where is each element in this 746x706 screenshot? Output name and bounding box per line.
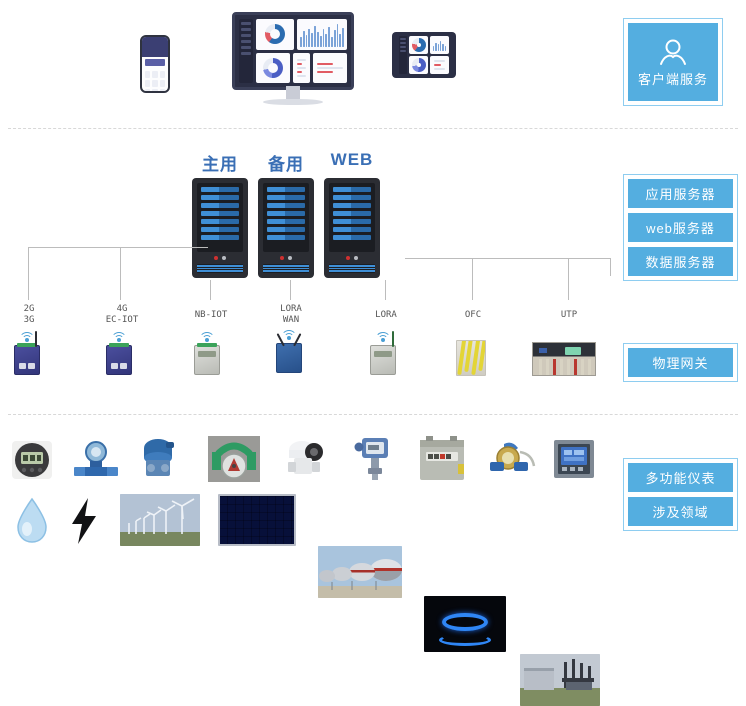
gas-meter-icon — [414, 434, 470, 482]
substation-icon — [520, 654, 600, 706]
connector-drop-utp — [568, 258, 569, 300]
dashboard-body — [256, 19, 347, 83]
web-server-rack — [324, 178, 380, 278]
switch-indicator — [539, 348, 547, 353]
phone-tile — [160, 89, 165, 93]
legend-servers: 应用服务器 web服务器 数据服务器 — [623, 174, 738, 281]
nbiot-gateway — [194, 332, 220, 375]
legend-physical-gateway: 物理网关 — [628, 348, 733, 377]
rack-bays — [197, 183, 243, 252]
power-quality-analyzer — [550, 436, 600, 482]
electrical-substation-photo — [520, 654, 600, 706]
rack-leds — [263, 252, 309, 264]
phone-tile — [152, 71, 157, 78]
connector-bus-left — [28, 247, 208, 248]
divider-gateway-meter — [8, 414, 738, 415]
proto-2g-3g: 2G 3G — [4, 304, 54, 326]
rack-base — [329, 264, 375, 273]
phone-tile — [152, 80, 157, 87]
proto-lorawan: LORA WAN — [264, 304, 318, 326]
rack-leds — [197, 252, 243, 264]
rack-leds — [329, 252, 375, 264]
network-switch — [532, 342, 596, 376]
pressure-gauge-icon — [348, 434, 400, 482]
flame-ring-outer — [442, 613, 488, 631]
tablet — [392, 32, 456, 78]
router-body — [106, 345, 132, 375]
proto-utp: UTP — [542, 310, 596, 321]
phone-tile — [152, 89, 157, 93]
client-service-label: 客户端服务 — [638, 69, 708, 88]
legend-multifunction-meter: 多功能仪表 — [628, 463, 733, 492]
rack-label-backup: 备用 — [258, 150, 314, 175]
power-meter-icon — [550, 436, 600, 482]
lora-modem — [370, 332, 396, 375]
phone-header — [142, 37, 168, 57]
pressure-transmitter — [132, 436, 184, 482]
dashboard-row-bottom — [256, 53, 347, 84]
divider-client-server — [8, 128, 738, 129]
legend-application-fields: 涉及领域 — [628, 497, 733, 526]
solar-panel-photo — [218, 494, 296, 546]
cellular-gateway — [14, 332, 40, 375]
vortex-flow-meter — [280, 436, 332, 482]
smartphone — [140, 35, 170, 93]
wifi-signal-icon — [18, 332, 36, 343]
proto-4g-ecio: 4G EC-IOT — [96, 304, 148, 326]
connector-right-riser — [610, 258, 611, 276]
tablet-bar-panel — [430, 36, 449, 54]
rack-label-web: WEB — [324, 150, 380, 170]
fiber-optic-cables — [456, 340, 486, 376]
legend-devices: 多功能仪表 涉及领域 — [623, 458, 738, 531]
dashboard-sidebar — [239, 19, 253, 83]
tablet-sidebar — [399, 36, 407, 74]
industrial-router — [106, 332, 132, 375]
tablet-body — [409, 36, 449, 74]
wifi-signal-icon — [198, 332, 216, 343]
phone-tile — [145, 71, 150, 78]
electricity-bolt-icon — [66, 496, 102, 546]
gauge-panel — [313, 53, 347, 84]
user-icon — [656, 37, 690, 67]
desktop-monitor — [232, 12, 354, 105]
phone-tile — [160, 71, 165, 78]
connector-bus-right — [405, 258, 610, 259]
tablet-table-panel — [430, 56, 449, 74]
storage-tanks-icon — [318, 546, 402, 598]
flow-meter-icon — [70, 439, 122, 481]
rack-base — [197, 264, 243, 273]
phone-banner — [145, 59, 165, 66]
phone-tile — [145, 89, 150, 93]
primary-server-rack — [192, 178, 248, 278]
gateway-body — [14, 345, 40, 375]
legend-gateway: 物理网关 — [623, 343, 738, 382]
phone-tile — [145, 80, 150, 87]
data-table-panel — [293, 53, 310, 84]
antenna-icon — [35, 331, 37, 347]
vortex-meter-icon — [280, 436, 332, 482]
wifi-signal-icon — [374, 332, 392, 343]
legend-data-server: 数据服务器 — [628, 247, 733, 276]
monitor-neck — [286, 86, 300, 99]
legend-app-server: 应用服务器 — [628, 179, 733, 208]
flame-ring-inner — [439, 634, 491, 646]
rack-bays — [263, 183, 309, 252]
gas-flame-photo — [424, 596, 506, 652]
digital-display-meter — [8, 438, 56, 482]
residential-gas-meter — [414, 434, 470, 482]
lorawan-body — [276, 343, 302, 373]
monitor-base — [263, 99, 323, 105]
turbine-flow-meter — [208, 436, 260, 482]
gas-storage-tanks-photo — [318, 546, 402, 598]
connector-drop-2g — [28, 247, 29, 300]
phone-tile — [160, 80, 165, 87]
tablet-donut-panel — [409, 36, 428, 54]
wind-farm-photo — [120, 494, 200, 546]
water-drop-icon — [12, 496, 52, 546]
antenna-icon — [392, 331, 394, 347]
electromagnetic-flow-meter — [70, 438, 122, 482]
dashboard-row-top — [256, 19, 347, 50]
proto-lora: LORA — [359, 310, 413, 321]
client-service-chip: 客户端服务 — [628, 23, 718, 101]
connector-drop-nbiot — [210, 280, 211, 300]
turbine-meter-icon — [208, 436, 260, 482]
connector-drop-lora — [385, 280, 386, 300]
switch-display — [565, 347, 581, 355]
smart-water-meter — [484, 438, 540, 482]
donut-chart-panel-2 — [256, 53, 290, 84]
tablet-donut-panel-2 — [409, 56, 428, 74]
phone-app-grid — [142, 68, 168, 93]
water-meter-icon — [484, 438, 540, 482]
lorawan-gateway — [276, 330, 302, 373]
legend-web-server: web服务器 — [628, 213, 733, 242]
legend-client-service: 客户端服务 — [623, 18, 723, 106]
rack-base — [263, 264, 309, 273]
lora-body — [370, 345, 396, 375]
pressure-transmitter-icon — [132, 436, 184, 482]
bar-chart-panel — [297, 19, 347, 50]
tablet-screen — [392, 32, 456, 78]
smart-pressure-gauge — [348, 434, 400, 482]
connector-drop-lorawan — [290, 280, 291, 300]
proto-nbiot: NB-IOT — [184, 310, 238, 321]
wifi-signal-icon — [110, 332, 128, 343]
digital-meter-icon — [9, 439, 55, 481]
backup-server-rack — [258, 178, 314, 278]
rack-bays — [329, 183, 375, 252]
proto-ofc: OFC — [446, 310, 500, 321]
nbiot-body — [194, 345, 220, 375]
connector-drop-4g — [120, 247, 121, 300]
architecture-diagram: 客户端服务 主用 备用 WEB 应用服务器 web服务器 数据服务器 2G — [0, 0, 746, 555]
connector-drop-ofc — [472, 258, 473, 300]
wind-turbines-icon — [120, 494, 200, 546]
rack-label-primary: 主用 — [192, 150, 248, 175]
monitor-screen — [232, 12, 354, 90]
donut-chart-panel — [256, 19, 294, 50]
